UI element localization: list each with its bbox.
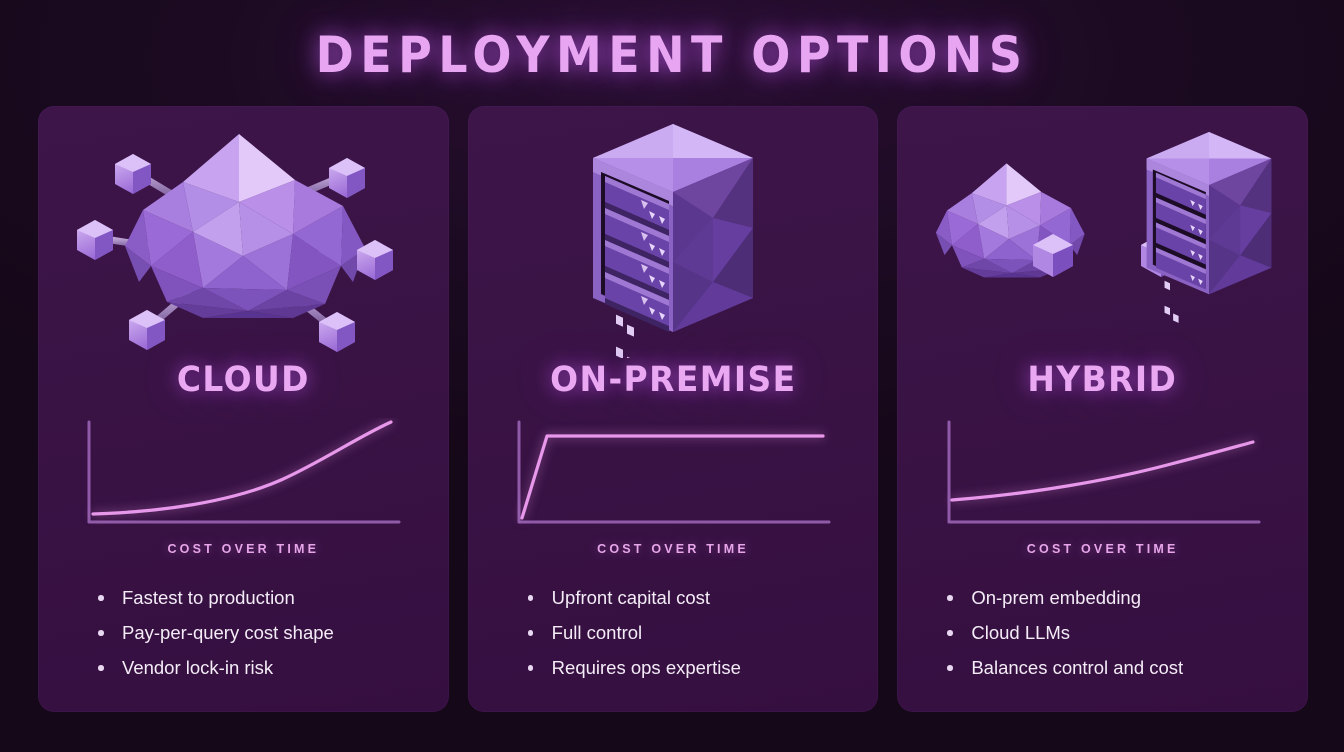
bullet-dot-icon <box>528 665 534 671</box>
page-title: DEPLOYMENT OPTIONS <box>54 26 1290 84</box>
bullet-dot-icon <box>98 665 104 671</box>
list-item: Upfront capital cost <box>526 580 879 615</box>
bullet-dot-icon <box>947 630 953 636</box>
list-item-label: Balances control and cost <box>971 657 1183 678</box>
bullet-dot-icon <box>528 630 534 636</box>
list-item-label: Fastest to production <box>122 587 295 608</box>
chart-on-premise <box>511 418 835 536</box>
list-item: Cloud LLMs <box>945 615 1308 650</box>
bullet-dot-icon <box>98 630 104 636</box>
bullet-dot-icon <box>947 665 953 671</box>
bullet-dot-icon <box>98 595 104 601</box>
on-premise-illustration <box>468 106 879 358</box>
card-title-cloud: CLOUD <box>50 360 436 400</box>
list-item: On-prem embedding <box>945 580 1308 615</box>
list-item: Pay-per-query cost shape <box>96 615 449 650</box>
list-item-label: Vendor lock-in risk <box>122 657 273 678</box>
cards-container: CLOUD COST OVER TIME Fastest to producti… <box>38 106 1308 712</box>
cloud-node <box>115 154 151 194</box>
list-item: Balances control and cost <box>945 650 1308 685</box>
list-item-label: On-prem embedding <box>971 587 1141 608</box>
low-poly-cloud-linked-to-server-icon <box>897 106 1308 358</box>
list-item: Full control <box>526 615 879 650</box>
list-item-label: Upfront capital cost <box>552 587 710 608</box>
chart-cloud <box>81 418 405 536</box>
list-item-label: Full control <box>552 622 642 643</box>
list-item: Vendor lock-in risk <box>96 650 449 685</box>
list-item-label: Pay-per-query cost shape <box>122 622 334 643</box>
card-title-hybrid: HYBRID <box>910 360 1296 400</box>
low-poly-cloud-with-nodes-icon <box>43 106 443 358</box>
chart-caption-hybrid: COST OVER TIME <box>897 542 1308 556</box>
cloud-node <box>329 158 365 198</box>
list-item-label: Requires ops expertise <box>552 657 741 678</box>
card-cloud[interactable]: CLOUD COST OVER TIME Fastest to producti… <box>38 106 449 712</box>
bullet-list-hybrid: On-prem embedding Cloud LLMs Balances co… <box>945 580 1308 685</box>
card-title-on-premise: ON-PREMISE <box>480 360 866 400</box>
infographic-root: DEPLOYMENT OPTIONS <box>0 0 1344 752</box>
bullet-list-on-premise: Upfront capital cost Full control Requir… <box>526 580 879 685</box>
hybrid-illustration <box>897 106 1308 358</box>
list-item: Fastest to production <box>96 580 449 615</box>
hybrid-server-rack <box>1146 132 1271 323</box>
list-item-label: Cloud LLMs <box>971 622 1070 643</box>
card-on-premise[interactable]: ON-PREMISE COST OVER TIME Upfront capita… <box>468 106 879 712</box>
chart-caption-cloud: COST OVER TIME <box>38 542 449 556</box>
bullet-list-cloud: Fastest to production Pay-per-query cost… <box>96 580 449 685</box>
cloud-node <box>77 220 113 260</box>
bullet-dot-icon <box>947 595 953 601</box>
list-item: Requires ops expertise <box>526 650 879 685</box>
cloud-illustration <box>38 106 449 358</box>
chart-caption-on-premise: COST OVER TIME <box>468 542 879 556</box>
card-hybrid[interactable]: HYBRID COST OVER TIME On-prem embedding … <box>897 106 1308 712</box>
low-poly-server-rack-icon <box>473 106 873 358</box>
bullet-dot-icon <box>528 595 534 601</box>
cloud-body <box>125 134 365 318</box>
chart-hybrid <box>941 418 1265 536</box>
